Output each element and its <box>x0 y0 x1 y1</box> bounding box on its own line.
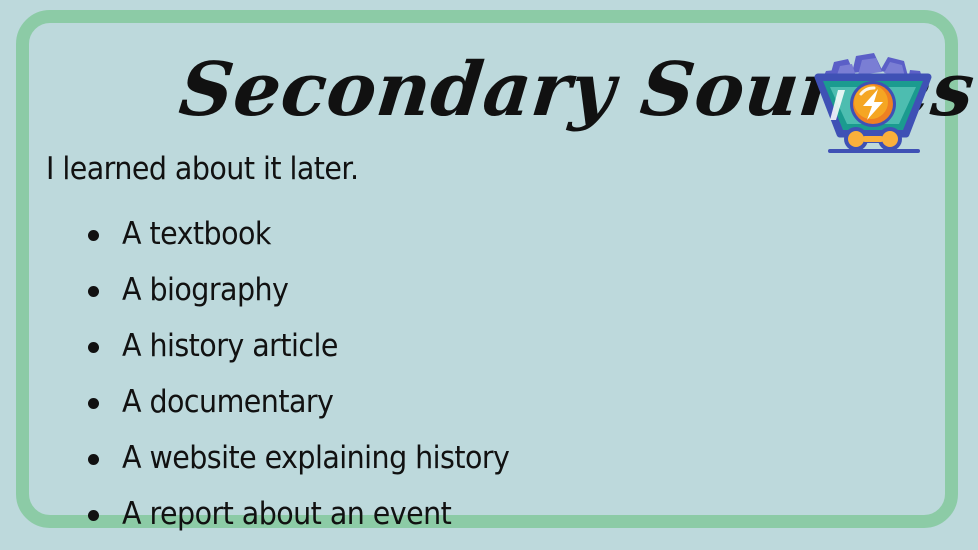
list-item: A history article <box>86 318 543 374</box>
rail-line <box>828 149 920 153</box>
mine-cart-icon <box>812 46 934 158</box>
bullet-icon <box>88 286 99 297</box>
slide-content: Secondary Sources <box>0 0 978 550</box>
list-item-label: A website explaining history <box>122 430 509 486</box>
bullet-icon <box>88 398 99 409</box>
slide-canvas: Secondary Sources <box>0 0 978 550</box>
bullet-icon <box>88 510 99 521</box>
secondary-sources-list: A textbook A biography A history article… <box>86 206 543 542</box>
list-item-label: A report about an event <box>122 486 451 542</box>
bullet-icon <box>88 230 99 241</box>
lightning-badge-icon <box>850 81 896 127</box>
intro-text: I learned about it later. <box>46 150 358 188</box>
bullet-icon <box>88 454 99 465</box>
list-item: A textbook <box>86 206 543 262</box>
list-item-label: A documentary <box>122 374 333 430</box>
list-item-label: A textbook <box>122 206 271 262</box>
list-item-label: A biography <box>122 262 288 318</box>
list-item: A report about an event <box>86 486 543 542</box>
list-item: A biography <box>86 262 543 318</box>
list-item: A documentary <box>86 374 543 430</box>
bullet-icon <box>88 342 99 353</box>
list-item-label: A history article <box>122 318 338 374</box>
list-item: A website explaining history <box>86 430 543 486</box>
page-title: Secondary Sources <box>175 42 805 138</box>
